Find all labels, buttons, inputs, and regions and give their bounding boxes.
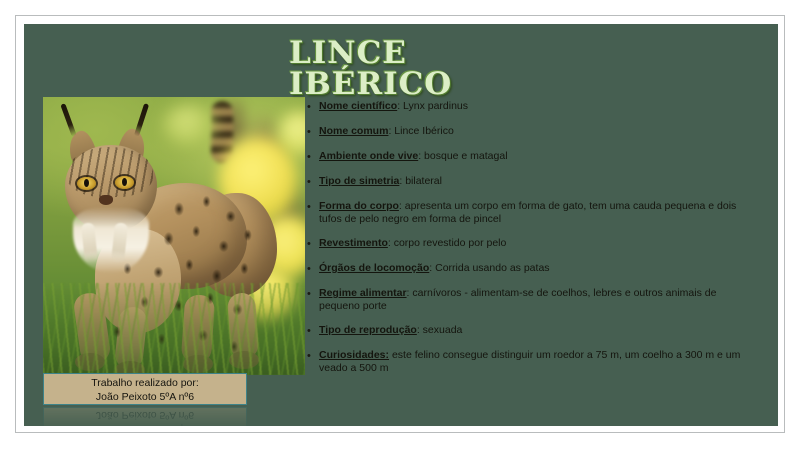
bullet-text: Curiosidades: este felino consegue disti…: [319, 349, 759, 375]
bullet-label: Tipo de simetria: [319, 175, 399, 187]
bullet-item[interactable]: •Tipo de simetria: bilateral: [307, 175, 759, 189]
content-bullet-list: •Nome científico: Lynx pardinus•Nome com…: [307, 100, 759, 386]
lynx-ear-tuft: [60, 103, 76, 137]
bullet-marker-icon: •: [307, 175, 319, 189]
lynx-ear-tuft: [134, 103, 149, 137]
lynx-nose: [99, 195, 113, 205]
bullet-item[interactable]: •Tipo de reprodução: sexuada: [307, 324, 759, 338]
bullet-text: Tipo de simetria: bilateral: [319, 175, 759, 188]
lynx-photo[interactable]: [43, 97, 305, 375]
caption-box[interactable]: Trabalho realizado por: João Peixoto 5ºA…: [43, 373, 247, 405]
bullet-label: Revestimento: [319, 237, 388, 249]
bullet-label: Nome científico: [319, 100, 397, 112]
bullet-label: Nome comum: [319, 125, 388, 137]
bullet-marker-icon: •: [307, 324, 319, 338]
bullet-marker-icon: •: [307, 150, 319, 164]
caption-line-1: Trabalho realizado por:: [44, 376, 246, 390]
bullet-value: Corrida usando as patas: [435, 262, 549, 274]
bullet-text: Nome científico: Lynx pardinus: [319, 100, 759, 113]
lynx-head-stripes: [67, 147, 153, 197]
bullet-label: Órgãos de locomoção: [319, 262, 429, 274]
bullet-text: Tipo de reprodução: sexuada: [319, 324, 759, 337]
bullet-item[interactable]: •Forma do corpo: apresenta um corpo em f…: [307, 200, 759, 226]
bullet-label: Regime alimentar: [319, 287, 407, 299]
bullet-marker-icon: •: [307, 287, 319, 301]
bullet-item[interactable]: •Ambiente onde vive: bosque e matagal: [307, 150, 759, 164]
bullet-text: Órgãos de locomoção: Corrida usando as p…: [319, 262, 759, 275]
bullet-text: Nome comum: Lince Ibérico: [319, 125, 759, 138]
caption-reflection-inner: Trabalho realizado por: João Peixoto 5ºA…: [43, 407, 247, 426]
bullet-text: Regime alimentar: carnívoros - alimentam…: [319, 287, 759, 313]
bullet-text: Revestimento: corpo revestido por pelo: [319, 237, 759, 250]
bullet-value: bosque e matagal: [424, 150, 507, 162]
photo-foreground-grass: [43, 283, 305, 375]
bullet-item[interactable]: •Revestimento: corpo revestido por pelo: [307, 237, 759, 251]
bullet-label: Curiosidades:: [319, 349, 389, 361]
bullet-text: Ambiente onde vive: bosque e matagal: [319, 150, 759, 163]
slide-frame: Lince Ibérico Trabalho realizado por: Jo…: [15, 15, 785, 433]
bullet-item[interactable]: •Curiosidades: este felino consegue dist…: [307, 349, 759, 375]
bullet-marker-icon: •: [307, 262, 319, 276]
caption-reflection-line-1: Trabalho realizado por:: [44, 422, 246, 426]
bullet-item[interactable]: •Regime alimentar: carnívoros - alimenta…: [307, 287, 759, 313]
bullet-marker-icon: •: [307, 237, 319, 251]
slide-canvas: Lince Ibérico Trabalho realizado por: Jo…: [24, 24, 778, 426]
bullet-value: Lince Ibérico: [394, 125, 454, 137]
bullet-value: bilateral: [405, 175, 442, 187]
caption-reflection: Trabalho realizado por: João Peixoto 5ºA…: [43, 407, 247, 426]
caption-reflection-line-2: João Peixoto 5ºA nº6: [44, 408, 246, 422]
bullet-text: Forma do corpo: apresenta um corpo em fo…: [319, 200, 759, 226]
bullet-item[interactable]: •Nome científico: Lynx pardinus: [307, 100, 759, 114]
app-frame: Lince Ibérico Trabalho realizado por: Jo…: [0, 0, 800, 450]
bullet-value: sexuada: [423, 324, 463, 336]
bullet-label: Ambiente onde vive: [319, 150, 418, 162]
bullet-value: Lynx pardinus: [403, 100, 468, 112]
caption-line-2: João Peixoto 5ºA nº6: [44, 390, 246, 404]
bullet-marker-icon: •: [307, 125, 319, 139]
bullet-marker-icon: •: [307, 349, 319, 363]
lynx-pupil: [122, 178, 127, 186]
bullet-item[interactable]: •Órgãos de locomoção: Corrida usando as …: [307, 262, 759, 276]
slide-title: Lince Ibérico: [289, 38, 759, 100]
lynx-pupil: [84, 179, 89, 187]
bullet-item[interactable]: •Nome comum: Lince Ibérico: [307, 125, 759, 139]
bullet-value: corpo revestido por pelo: [394, 237, 507, 249]
bullet-marker-icon: •: [307, 100, 319, 114]
bullet-label: Forma do corpo: [319, 200, 399, 212]
bullet-marker-icon: •: [307, 200, 319, 214]
bullet-label: Tipo de reprodução: [319, 324, 417, 336]
